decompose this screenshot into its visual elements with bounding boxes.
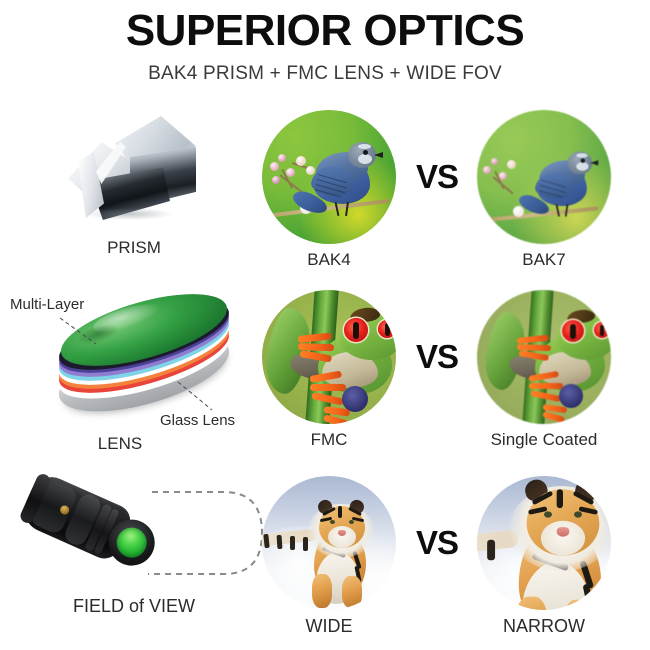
image-fmc-frog bbox=[262, 290, 396, 424]
bird-figure bbox=[492, 123, 599, 230]
tiger-zoomed-group bbox=[477, 476, 611, 610]
image-bak7-bird bbox=[477, 110, 611, 244]
image-bak4-bird bbox=[262, 110, 396, 244]
frog-foot-upper bbox=[517, 334, 559, 358]
callout-glass-lens: Glass Lens bbox=[160, 412, 235, 430]
image-narrow-tiger bbox=[477, 476, 611, 610]
label-bak4: BAK4 bbox=[262, 250, 396, 270]
frog-foot-upper bbox=[298, 332, 342, 358]
caption-lens: LENS bbox=[40, 434, 200, 454]
bird-figure bbox=[262, 110, 396, 244]
label-fmc: FMC bbox=[262, 430, 396, 450]
image-single-coated-frog bbox=[477, 290, 611, 424]
row-fov: FIELD of VIEW bbox=[0, 468, 650, 650]
caption-prism: PRISM bbox=[0, 238, 268, 258]
lens-illustration bbox=[48, 298, 248, 418]
label-wide: WIDE bbox=[262, 616, 396, 636]
prism-illustration bbox=[60, 112, 210, 224]
image-wide-tiger bbox=[262, 476, 396, 610]
vs-label-row-lens: VS bbox=[405, 340, 469, 374]
vs-label-row-prism: VS bbox=[405, 160, 469, 194]
row-prism: PRISM bbox=[0, 0, 650, 280]
label-bak7: BAK7 bbox=[477, 250, 611, 270]
infographic-canvas: SUPERIOR OPTICS BAK4 PRISM + FMC LENS + … bbox=[0, 0, 650, 650]
row-lens: Multi-Layer Glass Lens LENS bbox=[0, 282, 650, 467]
vs-label-row-fov: VS bbox=[405, 526, 469, 560]
callout-multi-layer: Multi-Layer bbox=[10, 296, 84, 314]
label-narrow: NARROW bbox=[465, 616, 623, 636]
caption-field-of-view: FIELD of VIEW bbox=[0, 596, 268, 616]
label-single-coated: Single Coated bbox=[460, 430, 628, 450]
